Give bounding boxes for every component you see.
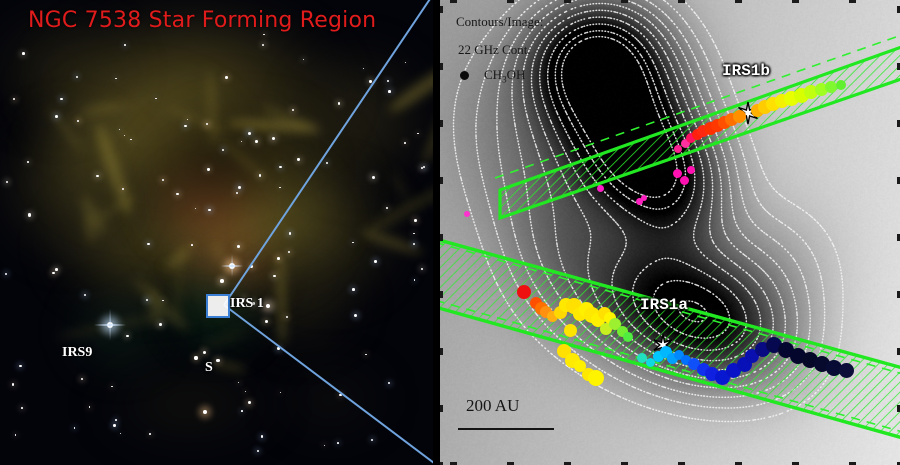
label-irs1a: IRS1a [640, 296, 688, 314]
zoom-line-top [223, 0, 433, 306]
right-panel-maser-map: Contours/Image: 22 GHz Cont. CH3OH IRS1b… [440, 0, 900, 465]
maser-dot [674, 145, 682, 153]
maser-dot [641, 195, 647, 201]
label-irs1b: IRS1b [722, 62, 770, 80]
maser-dot [733, 110, 746, 123]
page-title: NGC 7538 Star Forming Region [28, 8, 376, 33]
maser-dot [673, 169, 682, 178]
figure-root: NGC 7538 Star Forming Region IRS 1 IRS9 … [0, 0, 900, 465]
maser-dot [597, 185, 604, 192]
maser-dot [564, 324, 577, 337]
maser-dot [588, 370, 604, 386]
scalebar-line [458, 428, 554, 430]
legend-molecule-pre: CH [484, 67, 502, 82]
legend-molecule-post: OH [507, 67, 526, 82]
label-irs1: IRS 1 [230, 296, 264, 312]
legend-molecule-label: CH3OH [484, 67, 525, 85]
legend-contour-label: 22 GHz Cont. [458, 42, 531, 58]
label-s: S [205, 360, 213, 376]
label-irs9: IRS9 [62, 345, 92, 361]
maser-dot [680, 176, 689, 185]
maser-dot [687, 166, 695, 174]
maser-dot [623, 332, 633, 342]
maser-dot [517, 285, 531, 299]
zoom-line-bottom [223, 304, 433, 464]
legend-marker-dot [460, 71, 469, 80]
maser-dot [839, 363, 854, 378]
irs1-field-box[interactable] [206, 294, 230, 318]
maser-dot [836, 80, 846, 90]
left-panel-wide-field: NGC 7538 Star Forming Region IRS 1 IRS9 … [0, 0, 433, 465]
scalebar-label: 200 AU [466, 396, 519, 416]
maser-dot [464, 211, 470, 217]
legend-header: Contours/Image: [456, 14, 543, 30]
